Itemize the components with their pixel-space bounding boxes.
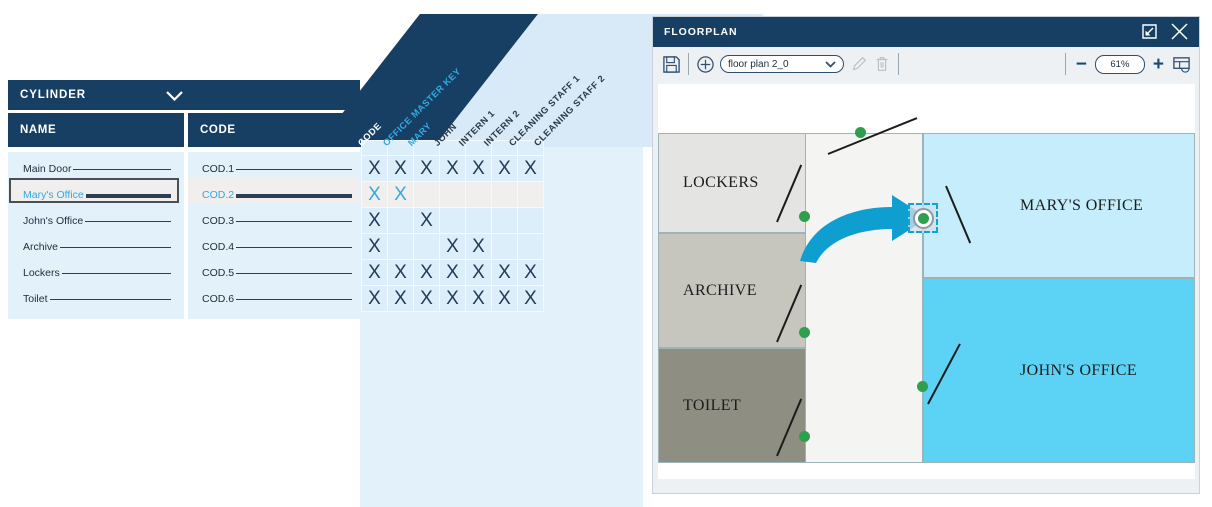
cylinder-panel-title: CYLINDER: [20, 89, 86, 101]
cylinder-row-name[interactable]: Main Door: [9, 156, 179, 182]
matrix-cell-marked[interactable]: X: [492, 286, 518, 312]
matrix-cell-marked[interactable]: X: [362, 260, 388, 286]
room-archive[interactable]: ARCHIVE: [658, 233, 806, 348]
column-header-name: NAME: [8, 113, 184, 147]
matrix-mark: X: [394, 158, 407, 179]
floorplan-select-value: floor plan 2_0: [728, 59, 789, 70]
cylinder-row-code[interactable]: COD.6: [188, 286, 360, 312]
matrix-row: XXXXXXX: [362, 156, 544, 182]
fit-to-screen-icon[interactable]: [1172, 55, 1191, 74]
zoom-level[interactable]: 61%: [1095, 55, 1145, 74]
matrix-cell-marked[interactable]: X: [518, 260, 544, 286]
toolbar-separator-3: [1065, 53, 1066, 75]
matrix-cell-marked[interactable]: X: [414, 156, 440, 182]
matrix-mark: X: [524, 158, 537, 179]
add-circle-icon[interactable]: [696, 55, 715, 74]
leader-line: [86, 194, 171, 198]
matrix-mark: X: [368, 236, 381, 257]
cylinder-row-name-label: John's Office: [9, 215, 85, 227]
matrix-cell-empty[interactable]: [518, 182, 544, 208]
floorplan-title: FLOORPLAN: [664, 26, 737, 38]
key-matrix[interactable]: XXXXXXXXXXXXXXXXXXXXXXXXXXXX: [361, 140, 544, 312]
matrix-cell-marked[interactable]: X: [466, 260, 492, 286]
cylinder-row-name-label: Lockers: [9, 267, 62, 279]
cylinder-dot-main-door[interactable]: [855, 127, 866, 138]
cylinder-row-code-label: COD.3: [188, 215, 236, 227]
matrix-row: XXXXXXX: [362, 260, 544, 286]
cylinder-row-name-label: Main Door: [9, 163, 73, 175]
cylinder-row-name-label: Archive: [9, 241, 60, 253]
matrix-cell-empty[interactable]: [440, 182, 466, 208]
cylinder-row-name[interactable]: Toilet: [9, 286, 179, 312]
matrix-cell-marked[interactable]: X: [388, 156, 414, 182]
matrix-cell-marked[interactable]: X: [466, 234, 492, 260]
matrix-cell-marked[interactable]: X: [518, 286, 544, 312]
matrix-cell-marked[interactable]: X: [440, 156, 466, 182]
cylinder-row-name[interactable]: Lockers: [9, 260, 179, 286]
cylinder-row-code[interactable]: COD.2: [188, 182, 360, 208]
matrix-cell-marked[interactable]: X: [362, 234, 388, 260]
cylinder-row-code[interactable]: COD.3: [188, 208, 360, 234]
zoom-out-button[interactable]: −: [1076, 55, 1087, 74]
matrix-row: XX: [362, 208, 544, 234]
matrix-mark: X: [368, 184, 381, 205]
matrix-cell-marked[interactable]: X: [440, 260, 466, 286]
matrix-mark: X: [368, 288, 381, 309]
matrix-cell-marked[interactable]: X: [492, 260, 518, 286]
room-label-marys-office: MARY'S OFFICE: [1020, 197, 1143, 215]
chevron-down-icon[interactable]: [825, 55, 836, 73]
matrix-cell-empty[interactable]: [466, 208, 492, 234]
matrix-cell-empty[interactable]: [414, 182, 440, 208]
matrix-cell-empty[interactable]: [492, 208, 518, 234]
matrix-cell-marked[interactable]: X: [362, 286, 388, 312]
cylinder-dot-toilet[interactable]: [799, 431, 810, 442]
room-toilet[interactable]: TOILET: [658, 348, 806, 463]
cylinder-row-code[interactable]: COD.5: [188, 260, 360, 286]
leader-line: [236, 273, 352, 274]
matrix-cell-empty[interactable]: [492, 234, 518, 260]
cylinder-dot-archive[interactable]: [799, 327, 810, 338]
cylinder-row-code-label: COD.6: [188, 293, 236, 305]
cylinder-row-name[interactable]: Archive: [9, 234, 179, 260]
matrix-mark: X: [368, 262, 381, 283]
leader-line: [73, 169, 171, 170]
leader-line: [62, 273, 171, 274]
matrix-cell-marked[interactable]: X: [362, 156, 388, 182]
leader-line: [85, 221, 171, 222]
room-label-archive: ARCHIVE: [683, 282, 757, 300]
matrix-cell-marked[interactable]: X: [362, 208, 388, 234]
matrix-mark: X: [446, 158, 459, 179]
matrix-mark: X: [420, 210, 433, 231]
matrix-cell-empty[interactable]: [388, 208, 414, 234]
key-panel-title: KEY: [300, 49, 326, 61]
floorplan-drawing[interactable]: LOCKERS ARCHIVE TOILET MARY'S OFFICE JOH…: [658, 133, 1195, 463]
cylinder-row-code-label: COD.4: [188, 241, 236, 253]
matrix-mark: X: [498, 158, 511, 179]
cylinder-core: [918, 213, 929, 224]
leader-line: [236, 299, 352, 300]
floorplan-canvas[interactable]: LOCKERS ARCHIVE TOILET MARY'S OFFICE JOH…: [658, 84, 1195, 479]
matrix-mark: X: [524, 262, 537, 283]
matrix-cell-marked[interactable]: X: [362, 182, 388, 208]
zoom-in-button[interactable]: +: [1153, 55, 1164, 74]
leader-line: [236, 169, 352, 170]
key-panel-header[interactable]: KEY: [300, 44, 390, 66]
matrix-row: XX: [362, 182, 544, 208]
toolbar-separator-2: [898, 53, 899, 75]
room-label-toilet: TOILET: [683, 397, 741, 415]
chevron-down-icon[interactable]: [335, 49, 350, 61]
matrix-cell-marked[interactable]: X: [388, 182, 414, 208]
column-header-code-label: CODE: [200, 124, 236, 136]
cylinder-row-name-label: Toilet: [9, 293, 50, 305]
matrix-cell-empty[interactable]: [518, 208, 544, 234]
floorplan-window: FLOORPLAN: [652, 16, 1200, 494]
matrix-cell-marked[interactable]: X: [492, 156, 518, 182]
cylinder-row-name[interactable]: Mary's Office: [9, 182, 179, 208]
matrix-cell-marked[interactable]: X: [466, 156, 492, 182]
matrix-row: XXX: [362, 234, 544, 260]
cylinder-row-code[interactable]: COD.1: [188, 156, 360, 182]
matrix-mark: X: [446, 288, 459, 309]
matrix-mark: X: [394, 184, 407, 205]
floorplan-titlebar: FLOORPLAN: [653, 17, 1199, 47]
matrix-cell-marked[interactable]: X: [414, 208, 440, 234]
matrix-mark: X: [472, 158, 485, 179]
matrix-mark: X: [420, 288, 433, 309]
cylinder-ring: [913, 208, 934, 229]
matrix-mark: X: [368, 158, 381, 179]
restore-down-icon[interactable]: [1140, 22, 1159, 41]
save-icon[interactable]: [662, 55, 681, 74]
leader-line: [236, 221, 352, 222]
floorplan-select[interactable]: floor plan 2_0: [720, 55, 844, 73]
matrix-cell-marked[interactable]: X: [518, 156, 544, 182]
leader-line: [60, 247, 171, 248]
matrix-mark: X: [498, 288, 511, 309]
matrix-mark: X: [472, 288, 485, 309]
matrix-cell-marked[interactable]: X: [388, 260, 414, 286]
matrix-cell-empty[interactable]: [440, 208, 466, 234]
matrix-cell-marked[interactable]: X: [440, 234, 466, 260]
cylinder-row-code-label: COD.5: [188, 267, 236, 279]
matrix-cell-marked[interactable]: X: [440, 286, 466, 312]
column-header-code: CODE: [188, 113, 360, 147]
matrix-mark: X: [472, 262, 485, 283]
matrix-mark: X: [394, 262, 407, 283]
matrix-cell-marked[interactable]: X: [388, 286, 414, 312]
zoom-controls: − 61% +: [1065, 53, 1191, 75]
matrix-mark: X: [446, 236, 459, 257]
matrix-mark: X: [472, 236, 485, 257]
matrix-mark: X: [420, 158, 433, 179]
matrix-mark: X: [420, 262, 433, 283]
leader-line: [50, 299, 171, 300]
matrix-mark: X: [498, 262, 511, 283]
room-johns-office[interactable]: JOHN'S OFFICE: [923, 278, 1195, 463]
room-label-johns-office: JOHN'S OFFICE: [1020, 362, 1137, 380]
matrix-cell-marked[interactable]: X: [414, 286, 440, 312]
matrix-mark: X: [524, 288, 537, 309]
cylinder-row-name[interactable]: John's Office: [9, 208, 179, 234]
selected-cylinder-marker[interactable]: [908, 203, 938, 233]
matrix-mark: X: [368, 210, 381, 231]
matrix-cell-empty[interactable]: [466, 182, 492, 208]
room-label-lockers: LOCKERS: [683, 174, 759, 192]
matrix-cell-empty[interactable]: [492, 182, 518, 208]
leader-line: [236, 194, 352, 198]
matrix-row: XXXXXXX: [362, 286, 544, 312]
cylinder-row-code-label: COD.1: [188, 163, 236, 175]
room-lockers[interactable]: LOCKERS: [658, 133, 806, 233]
corridor[interactable]: [805, 133, 923, 463]
cylinder-dot-johns-office[interactable]: [917, 381, 928, 392]
matrix-cell-empty[interactable]: [388, 234, 414, 260]
toolbar-separator: [688, 53, 689, 75]
trash-icon[interactable]: [873, 55, 891, 73]
cylinder-row-code-label: COD.2: [188, 189, 236, 201]
matrix-mark: X: [394, 288, 407, 309]
matrix-mark: X: [446, 262, 459, 283]
cylinder-panel-header[interactable]: CYLINDER: [8, 80, 360, 110]
matrix-cell-marked[interactable]: X: [466, 286, 492, 312]
cylinder-row-code[interactable]: COD.4: [188, 234, 360, 260]
pencil-icon[interactable]: [850, 55, 868, 73]
matrix-cell-empty[interactable]: [518, 234, 544, 260]
matrix-cell-marked[interactable]: X: [414, 260, 440, 286]
matrix-cell-empty[interactable]: [414, 234, 440, 260]
close-icon[interactable]: [1169, 21, 1190, 42]
cylinder-row-name-label: Mary's Office: [9, 189, 86, 201]
leader-line: [236, 247, 352, 248]
room-marys-office[interactable]: MARY'S OFFICE: [923, 133, 1195, 278]
floorplan-toolbar: floor plan 2_0 − 61% +: [653, 47, 1199, 81]
chevron-down-icon[interactable]: [166, 88, 183, 106]
column-header-name-label: NAME: [20, 124, 56, 136]
